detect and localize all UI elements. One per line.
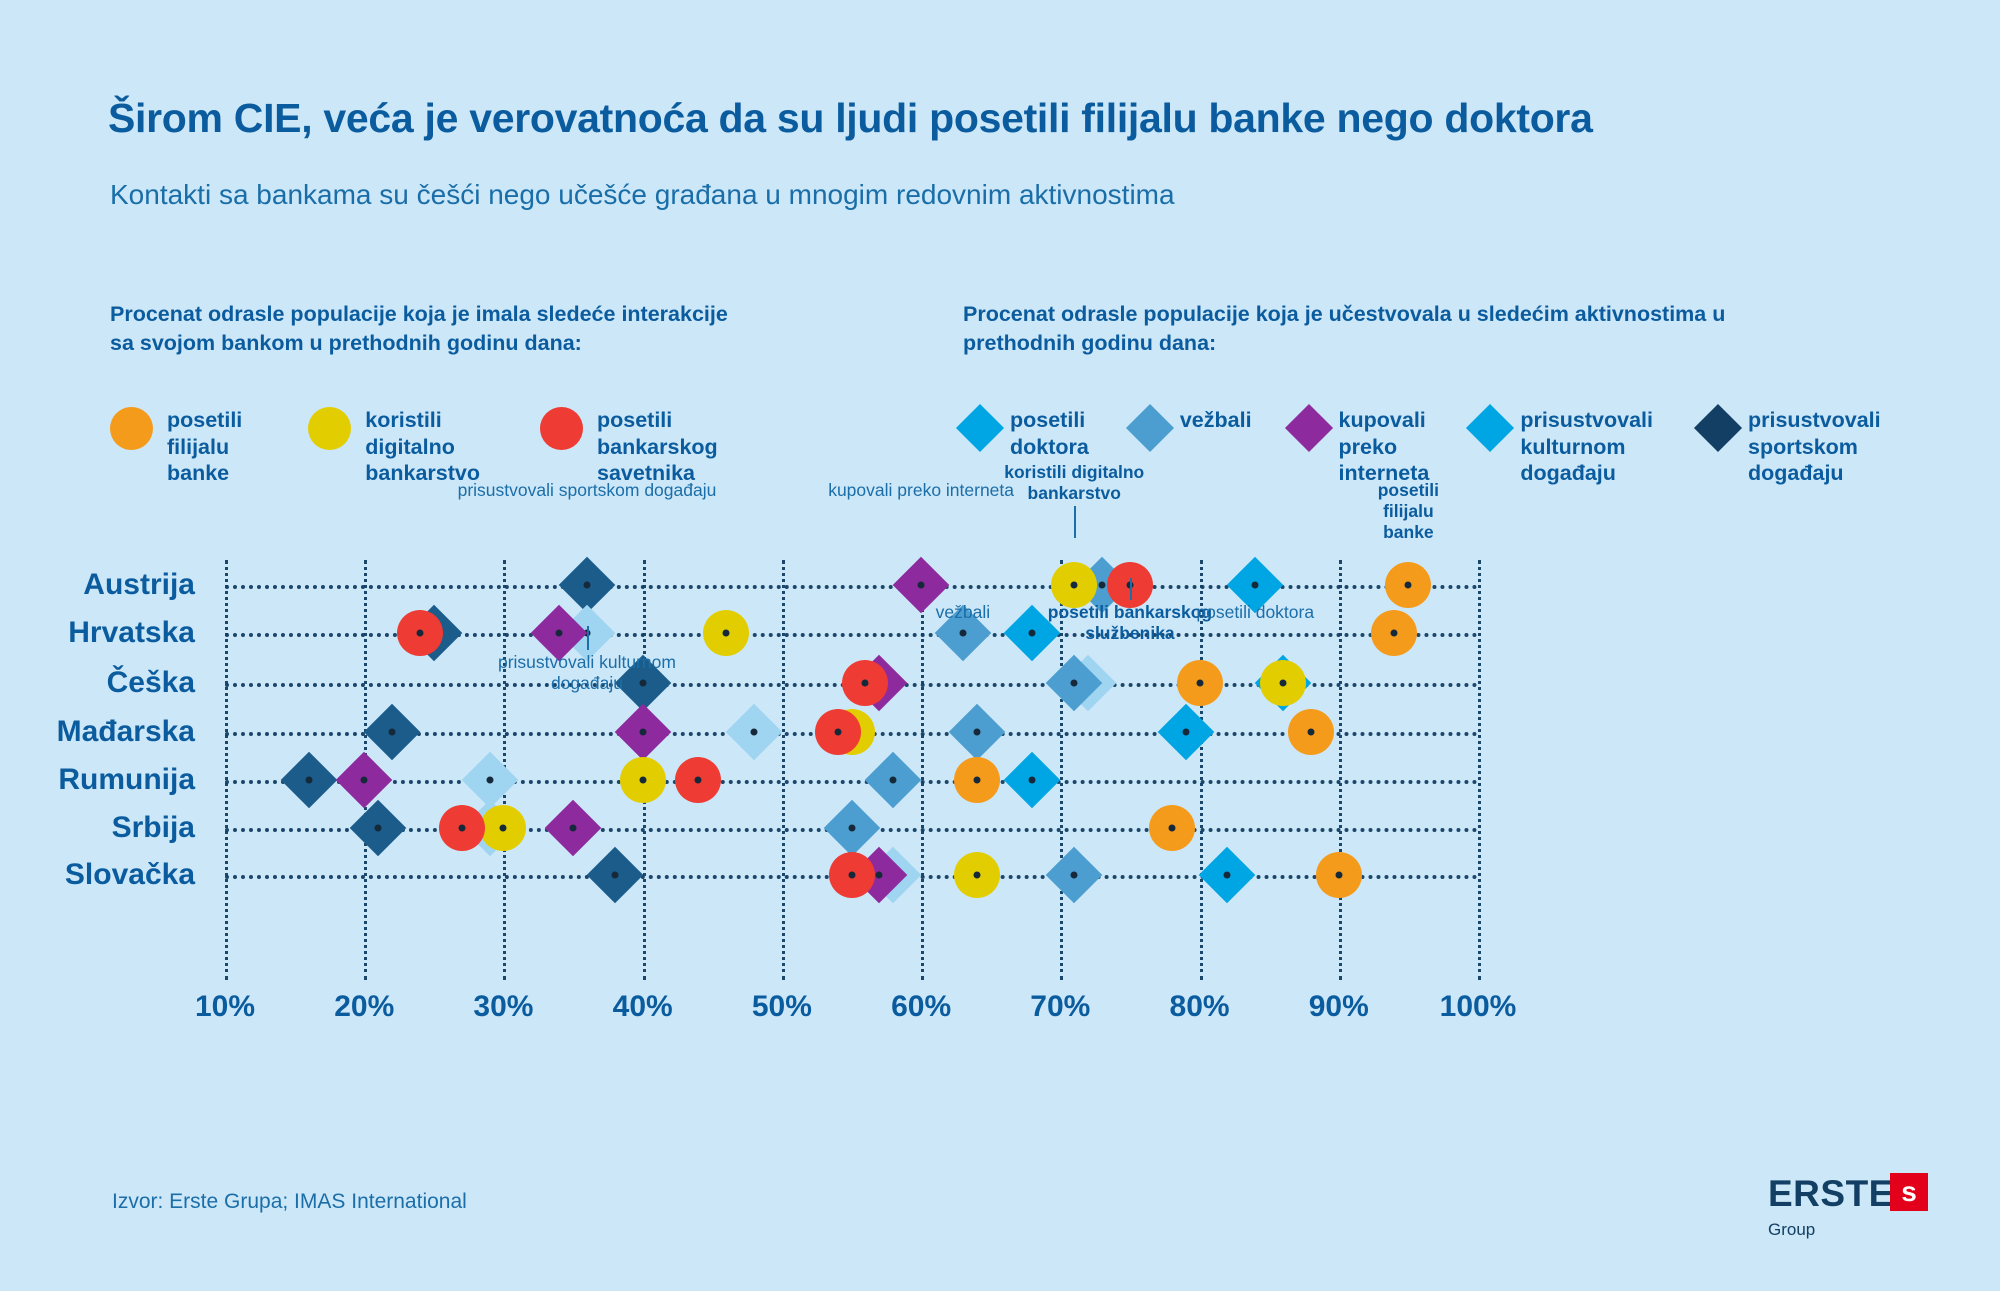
x-tick-label: 20% bbox=[334, 990, 394, 1024]
legend-item-posetili: posetili filijalu banke bbox=[110, 405, 242, 487]
point-center-dot bbox=[611, 872, 618, 879]
chart-annotation: prisustvovali sportskom događaju bbox=[458, 480, 717, 501]
purple-diamond-icon bbox=[1285, 404, 1333, 452]
data-point-prisustvovali-slovačka bbox=[587, 847, 644, 904]
point-center-dot bbox=[1071, 582, 1078, 589]
cyan-diamond-icon bbox=[956, 404, 1004, 452]
point-center-dot bbox=[876, 872, 883, 879]
navy-diamond-icon bbox=[1694, 404, 1742, 452]
legend-left-heading: Procenat odrasle populacije koja je imal… bbox=[110, 300, 750, 358]
point-center-dot bbox=[1307, 729, 1314, 736]
data-point-posetili-srbija bbox=[439, 805, 485, 851]
data-point-prisustvovali-rumunija bbox=[280, 752, 337, 809]
point-center-dot bbox=[1071, 872, 1078, 879]
point-center-dot bbox=[389, 729, 396, 736]
point-center-dot bbox=[1405, 582, 1412, 589]
point-center-dot bbox=[1252, 582, 1259, 589]
data-point-posetili-srbija bbox=[1149, 805, 1195, 851]
red-circle-icon bbox=[540, 407, 583, 450]
data-point-posetili-češka bbox=[842, 660, 888, 706]
chart-annotation: posetili doktora bbox=[1196, 602, 1314, 623]
legend-left: posetili filijalu bankekoristili digital… bbox=[110, 405, 758, 487]
x-tick-label: 40% bbox=[613, 990, 673, 1024]
data-point-vežbali-mađarska bbox=[949, 704, 1006, 761]
x-tick-label: 10% bbox=[195, 990, 255, 1024]
point-center-dot bbox=[973, 872, 980, 879]
point-center-dot bbox=[1029, 630, 1036, 637]
data-point-koristili-srbija bbox=[480, 805, 526, 851]
page-subtitle: Kontakti sa bankama su češći nego učešće… bbox=[110, 178, 1910, 212]
point-center-dot bbox=[375, 825, 382, 832]
point-center-dot bbox=[751, 729, 758, 736]
yellow-circle-icon bbox=[308, 407, 351, 450]
annotation-leader-line bbox=[1130, 578, 1132, 600]
legend-item-label: posetili doktora bbox=[1010, 405, 1089, 460]
legend-item-prisustvovali: prisustvovali sportskom događaju bbox=[1701, 405, 1881, 487]
point-center-dot bbox=[959, 630, 966, 637]
chart-annotation: vežbali bbox=[936, 602, 990, 623]
point-center-dot bbox=[973, 729, 980, 736]
chart-annotation: kupovali preko interneta bbox=[828, 480, 1014, 501]
point-center-dot bbox=[723, 630, 730, 637]
point-center-dot bbox=[1099, 582, 1106, 589]
x-axis-labels: 10%20%30%40%50%60%70%80%90%100% bbox=[225, 980, 1478, 1040]
legend-item-posetili: posetili bankarskog savetnika bbox=[540, 405, 718, 487]
point-center-dot bbox=[1196, 680, 1203, 687]
point-center-dot bbox=[695, 777, 702, 784]
row-label-hrvatska: Hrvatska bbox=[0, 616, 195, 650]
point-center-dot bbox=[639, 729, 646, 736]
chart-area: AustrijaHrvatskaČeškaMađarskaRumunijaSrb… bbox=[0, 560, 2000, 980]
point-center-dot bbox=[500, 825, 507, 832]
grid-line-vertical bbox=[225, 560, 228, 980]
grid-line-row bbox=[225, 780, 1478, 784]
data-point-posetili-hrvatska bbox=[1371, 610, 1417, 656]
chart-annotation: prisustvovali kulturnom događaju bbox=[498, 652, 676, 694]
grid-line-row bbox=[225, 585, 1478, 589]
data-point-posetili-slovačka bbox=[829, 852, 875, 898]
data-point-kupovali-mađarska bbox=[614, 704, 671, 761]
point-center-dot bbox=[361, 777, 368, 784]
data-point-kupovali-srbija bbox=[545, 800, 602, 857]
grid-line-vertical bbox=[1478, 560, 1481, 980]
legend-item-label: prisustvovali kulturnom događaju bbox=[1520, 405, 1653, 487]
point-center-dot bbox=[305, 777, 312, 784]
data-point-posetili-mađarska bbox=[815, 709, 861, 755]
legend-item-vežbali: vežbali bbox=[1133, 405, 1252, 445]
grid-line-vertical bbox=[1339, 560, 1342, 980]
point-center-dot bbox=[973, 777, 980, 784]
x-tick-label: 60% bbox=[891, 990, 951, 1024]
x-tick-label: 70% bbox=[1030, 990, 1090, 1024]
legend-right-heading: Procenat odrasle populacije koja je učes… bbox=[963, 300, 1843, 358]
x-tick-label: 30% bbox=[473, 990, 533, 1024]
logo-mark-icon: s bbox=[1890, 1173, 1928, 1211]
point-center-dot bbox=[639, 777, 646, 784]
erste-group-logo: ERSTE s Group bbox=[1768, 1175, 1928, 1240]
row-label-austrija: Austrija bbox=[0, 568, 195, 602]
row-label-slovačka: Slovačka bbox=[0, 858, 195, 892]
data-point-posetili-slovačka bbox=[1316, 852, 1362, 898]
data-point-vežbali-srbija bbox=[823, 800, 880, 857]
x-tick-label: 50% bbox=[752, 990, 812, 1024]
data-point-posetili-slovačka bbox=[1199, 847, 1256, 904]
row-label-češka: Češka bbox=[0, 666, 195, 700]
data-point-koristili-hrvatska bbox=[703, 610, 749, 656]
grid-line-vertical bbox=[921, 560, 924, 980]
page-title: Širom CIE, veća je verovatnoća da su lju… bbox=[108, 96, 1918, 141]
point-center-dot bbox=[1280, 680, 1287, 687]
plot-region: AustrijaHrvatskaČeškaMađarskaRumunijaSrb… bbox=[225, 560, 1478, 980]
point-center-dot bbox=[890, 777, 897, 784]
data-point-posetili-rumunija bbox=[1004, 752, 1061, 809]
data-point-posetili-hrvatska bbox=[397, 610, 443, 656]
data-point-kupovali-rumunija bbox=[336, 752, 393, 809]
point-center-dot bbox=[416, 630, 423, 637]
chart-annotation: posetili bankarskog službenika bbox=[1048, 602, 1212, 644]
point-center-dot bbox=[1071, 680, 1078, 687]
chart-annotation: koristili digitalno bankarstvo bbox=[1004, 462, 1144, 504]
data-point-koristili-slovačka bbox=[954, 852, 1000, 898]
data-point-posetili-rumunija bbox=[675, 757, 721, 803]
data-point-posetili-češka bbox=[1177, 660, 1223, 706]
point-center-dot bbox=[556, 630, 563, 637]
chart-annotation: posetili filijalu banke bbox=[1374, 480, 1444, 543]
data-point-prisustvovali-srbija bbox=[350, 800, 407, 857]
orange-circle-icon bbox=[110, 407, 153, 450]
point-center-dot bbox=[570, 825, 577, 832]
point-center-dot bbox=[862, 680, 869, 687]
row-label-rumunija: Rumunija bbox=[0, 763, 195, 797]
point-center-dot bbox=[1391, 630, 1398, 637]
annotation-leader-line bbox=[1074, 506, 1076, 538]
grid-line-vertical bbox=[782, 560, 785, 980]
infographic-root: Širom CIE, veća je verovatnoća da su lju… bbox=[0, 0, 2000, 1291]
data-point-posetili-rumunija bbox=[954, 757, 1000, 803]
source-note: Izvor: Erste Grupa; IMAS International bbox=[112, 1190, 467, 1214]
point-center-dot bbox=[848, 872, 855, 879]
data-point-prisustvovali-mađarska bbox=[726, 704, 783, 761]
legend-item-label: prisustvovali sportskom događaju bbox=[1748, 405, 1881, 487]
data-point-prisustvovali-mađarska bbox=[364, 704, 421, 761]
data-point-posetili-mađarska bbox=[1288, 709, 1334, 755]
data-point-posetili-mađarska bbox=[1157, 704, 1214, 761]
logo-subtext: Group bbox=[1768, 1220, 1928, 1240]
cyan-diamond-icon bbox=[1466, 404, 1514, 452]
point-center-dot bbox=[834, 729, 841, 736]
point-center-dot bbox=[1168, 825, 1175, 832]
x-tick-label: 100% bbox=[1440, 990, 1517, 1024]
legend-item-koristili: koristili digitalno bankarstvo bbox=[308, 405, 480, 487]
steel-blue-diamond-icon bbox=[1126, 404, 1174, 452]
row-label-srbija: Srbija bbox=[0, 811, 195, 845]
data-point-vežbali-rumunija bbox=[865, 752, 922, 809]
legend-item-label: posetili filijalu banke bbox=[167, 405, 242, 487]
x-tick-label: 80% bbox=[1170, 990, 1230, 1024]
data-point-koristili-češka bbox=[1260, 660, 1306, 706]
point-center-dot bbox=[918, 582, 925, 589]
annotation-leader-line bbox=[587, 626, 589, 650]
point-center-dot bbox=[1224, 872, 1231, 879]
legend-item-label: posetili bankarskog savetnika bbox=[597, 405, 718, 487]
point-center-dot bbox=[486, 777, 493, 784]
point-center-dot bbox=[848, 825, 855, 832]
point-center-dot bbox=[583, 582, 590, 589]
point-center-dot bbox=[1182, 729, 1189, 736]
legend-item-label: kupovali preko interneta bbox=[1339, 405, 1430, 487]
legend-item-prisustvovali: prisustvovali kulturnom događaju bbox=[1473, 405, 1653, 487]
legend-item-posetili: posetili doktora bbox=[963, 405, 1089, 460]
point-center-dot bbox=[458, 825, 465, 832]
data-point-vežbali-slovačka bbox=[1046, 847, 1103, 904]
x-tick-label: 90% bbox=[1309, 990, 1369, 1024]
legend-item-kupovali: kupovali preko interneta bbox=[1292, 405, 1430, 487]
row-label-mađarska: Mađarska bbox=[0, 715, 195, 749]
data-point-posetili-austrija bbox=[1385, 562, 1431, 608]
point-center-dot bbox=[1335, 872, 1342, 879]
data-point-koristili-rumunija bbox=[620, 757, 666, 803]
legend-item-label: vežbali bbox=[1180, 405, 1252, 434]
legend-item-label: koristili digitalno bankarstvo bbox=[365, 405, 480, 487]
point-center-dot bbox=[1029, 777, 1036, 784]
